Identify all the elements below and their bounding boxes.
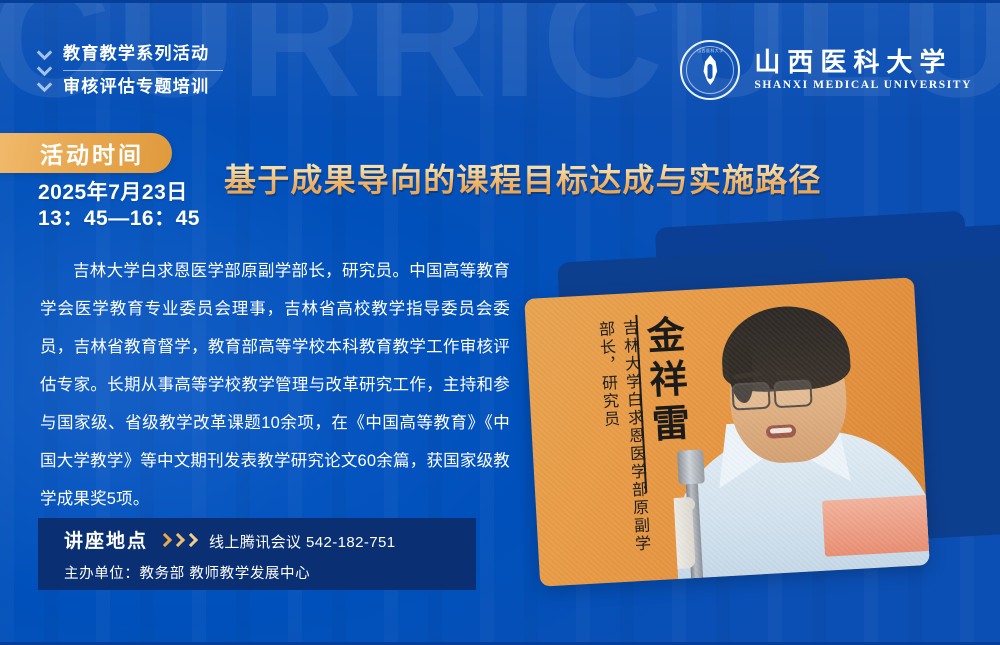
chevron-right-icon (160, 534, 171, 545)
university-name-en: SHANXI MEDICAL UNIVERSITY (754, 79, 972, 91)
header-block: 教育教学系列活动 审核评估专题培训 (38, 42, 223, 99)
desk-folder-shape (822, 492, 930, 556)
glasses-left-lens (731, 382, 770, 411)
venue-row: 讲座地点 线上腾讯会议 542-182-751 (64, 526, 476, 553)
event-date: 2025年7月23日 (38, 180, 200, 206)
seal-flame-icon (700, 55, 720, 85)
venue-info-box: 讲座地点 线上腾讯会议 542-182-751 主办单位：教务部 教师教学发展中… (38, 518, 476, 590)
mic-head (677, 449, 705, 484)
glasses-bridge (766, 389, 774, 392)
chevron-down-icon (38, 63, 51, 72)
chevron-right-icon (173, 534, 184, 545)
chevron-down-icon (38, 47, 51, 56)
seal-top-text: 山西医科大学 (682, 48, 738, 54)
mouth-shape (766, 424, 797, 439)
chevron-stack (38, 42, 51, 88)
speaker-photo (662, 277, 930, 579)
university-name-cn: 山西医科大学 (754, 49, 972, 76)
university-logo: 山西医科大学 山西医科大学 SHANXI MEDICAL UNIVERSITY (680, 40, 972, 100)
header-lines: 教育教学系列活动 审核评估专题培训 (63, 42, 223, 99)
chevron-down-icon (38, 79, 51, 88)
venue-value: 线上腾讯会议 542-182-751 (209, 531, 395, 552)
header-line-2: 审核评估专题培训 (63, 75, 223, 99)
speaker-name: 金祥雷 (641, 314, 686, 448)
speaker-card-stack: 金祥雷 吉林大学白求恩医学部原副学部长，研究员 (505, 215, 1000, 645)
poster-root: CURRICULUM 教育教学系列活动 审核评估专题培训 山西医科大学 山西医科… (0, 0, 1000, 645)
header-divider (63, 70, 223, 71)
header-line-1: 教育教学系列活动 (63, 42, 223, 66)
triple-chevron-right-icon (160, 534, 197, 545)
chevron-right-icon (186, 534, 197, 545)
university-names: 山西医科大学 SHANXI MEDICAL UNIVERSITY (754, 49, 972, 91)
organizer-text: 主办单位：教务部 教师教学发展中心 (64, 562, 476, 583)
venue-label: 讲座地点 (64, 526, 148, 553)
event-time-range: 13：45—16：45 (38, 206, 200, 232)
speaker-photo-card: 金祥雷 吉林大学白求恩医学部原副学部长，研究员 (524, 277, 929, 586)
glasses-right-lens (773, 379, 812, 408)
tea-mug-shape (662, 506, 695, 571)
event-time: 2025年7月23日 13：45—16：45 (38, 180, 200, 232)
time-badge: 活动时间 (0, 133, 172, 173)
page-title: 基于成果导向的课程目标达成与实施路径 (224, 155, 822, 201)
eyebrow-right-shape (775, 370, 803, 375)
top-edge-line (0, 0, 1000, 3)
university-seal-icon: 山西医科大学 (680, 40, 740, 100)
speaker-bio: 吉林大学白求恩医学部原副学部长，研究员。中国高等教育学会医学教育专业委员会理事，… (40, 252, 510, 518)
time-badge-label: 活动时间 (40, 136, 144, 170)
